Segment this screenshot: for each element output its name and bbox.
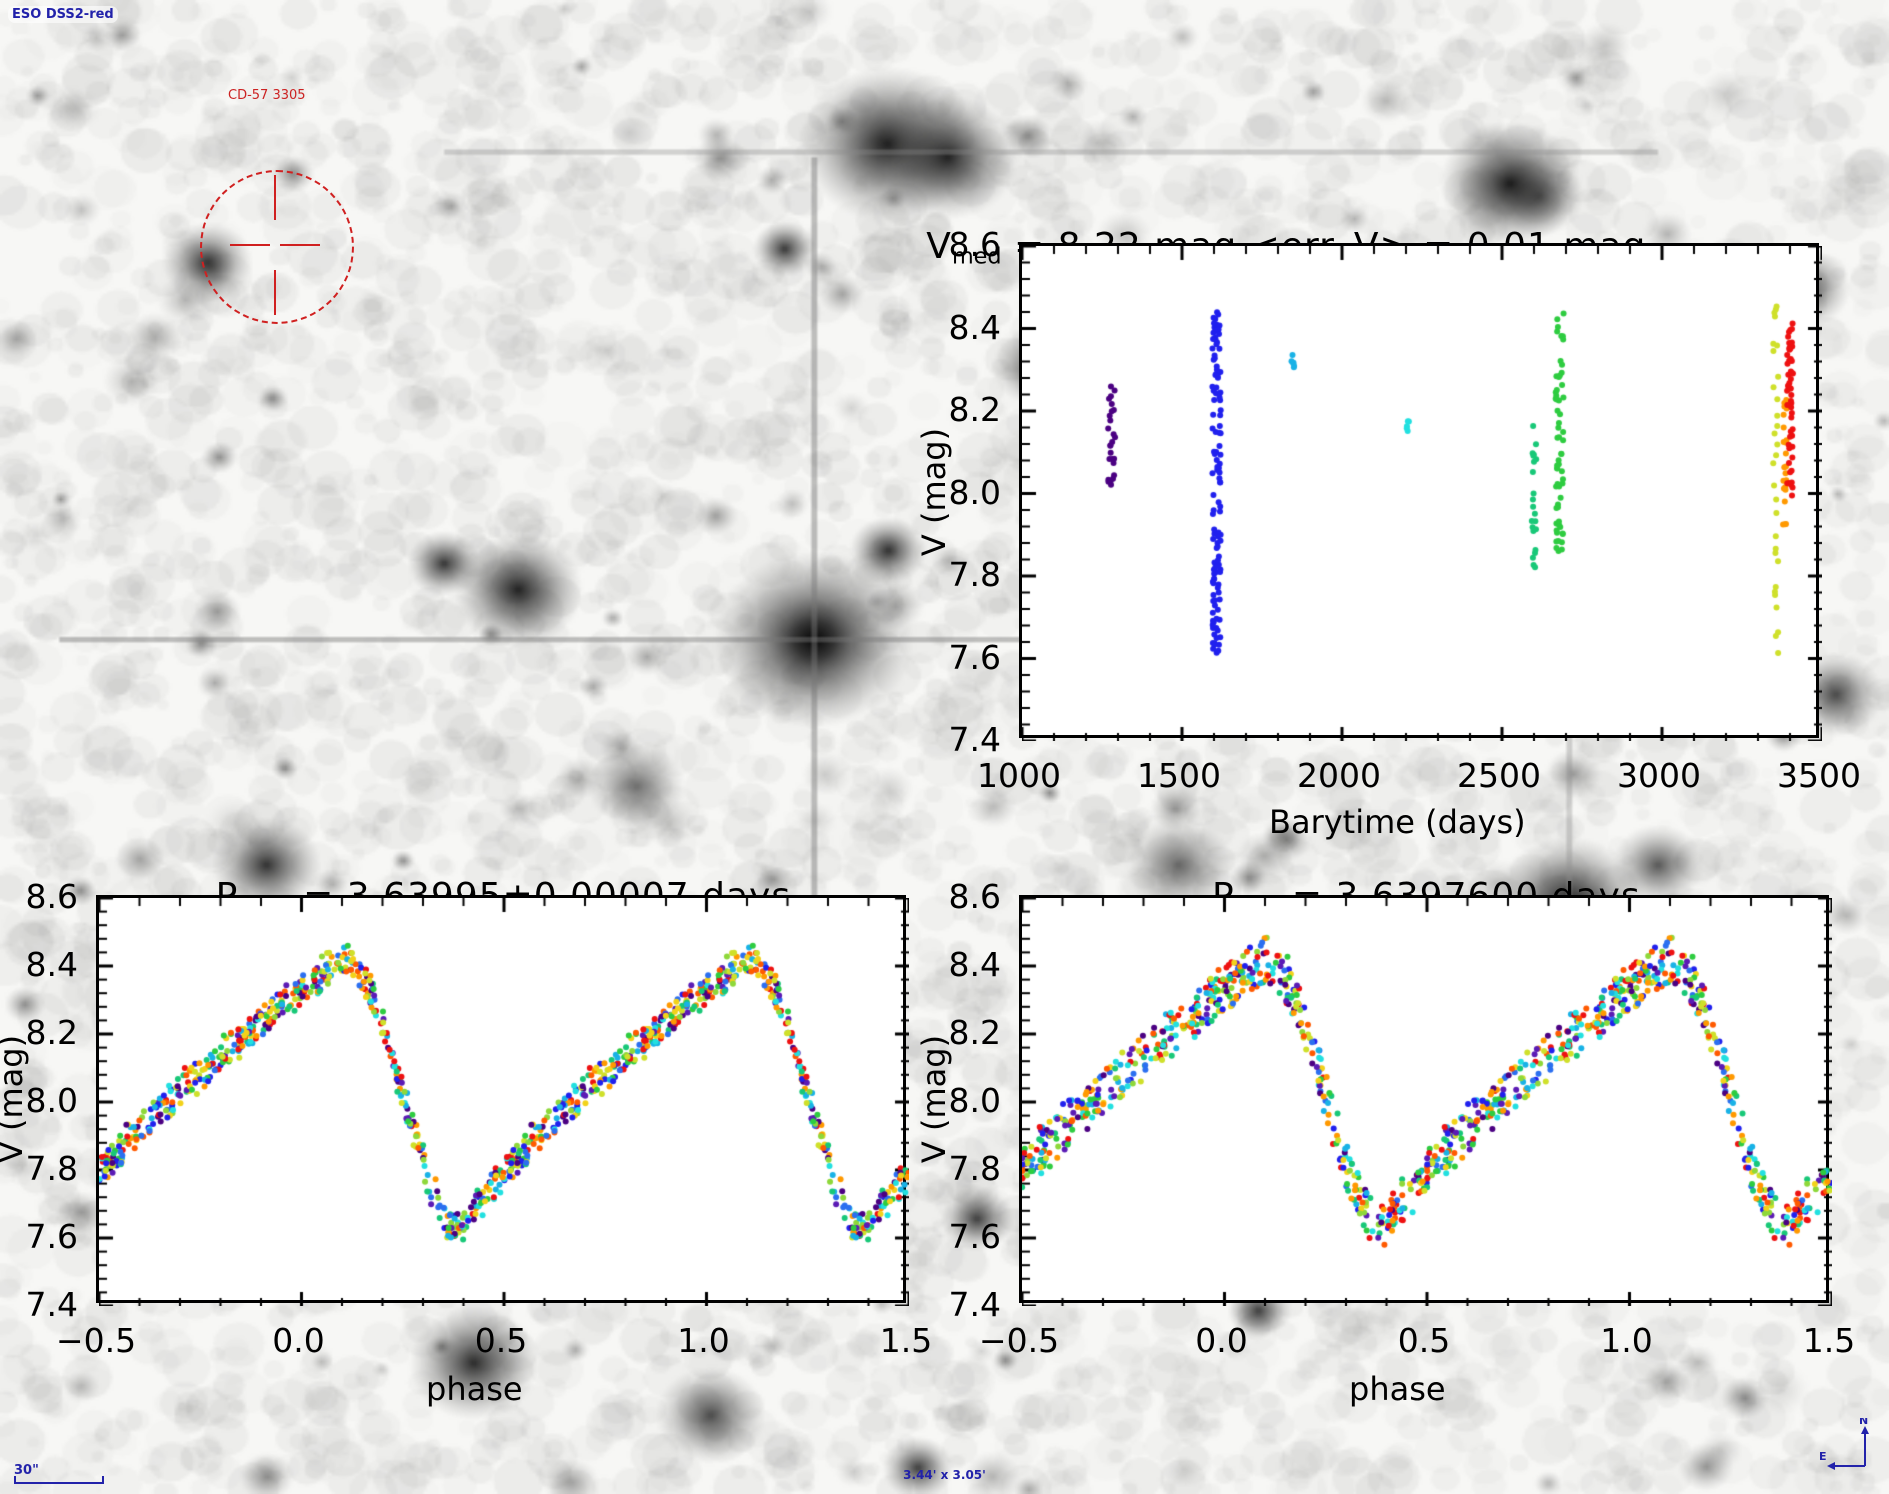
x-tick-label: 0.0: [272, 1321, 324, 1360]
x-tick-label: 0.5: [475, 1321, 527, 1360]
y-tick-label: 7.6: [891, 1217, 1001, 1256]
x-tick-label: 1.5: [1803, 1321, 1855, 1360]
y-tick-label: 8.6: [891, 225, 1001, 264]
y-tick-label: 8.4: [891, 945, 1001, 984]
y-tick-label: 8.2: [891, 1013, 1001, 1052]
lightcurve-datapoints: [1022, 246, 1822, 741]
target-aperture-circle: [200, 170, 354, 324]
x-tick-label: 1000: [977, 756, 1061, 795]
crosshair-horizontal: [230, 244, 270, 246]
y-tick-label: 7.8: [0, 1149, 78, 1188]
x-tick-label: 1.0: [677, 1321, 729, 1360]
y-tick-label: 7.4: [891, 1285, 1001, 1324]
crosshair-vertical: [274, 175, 276, 220]
y-tick-label: 8.0: [0, 1081, 78, 1120]
vsx-datapoints: [1022, 898, 1832, 1306]
star-id-label: CD-57 3305: [228, 88, 306, 103]
x-tick-label: 1.5: [880, 1321, 932, 1360]
y-tick-label: 8.4: [891, 308, 1001, 347]
y-tick-label: 8.2: [0, 1013, 78, 1052]
vsx-x-axis-label: phase: [1349, 1370, 1446, 1408]
x-tick-label: −0.5: [56, 1321, 136, 1360]
x-tick-label: 0.5: [1398, 1321, 1450, 1360]
y-tick-label: 7.4: [891, 720, 1001, 759]
x-tick-label: 0.0: [1195, 1321, 1247, 1360]
omc-datapoints: [99, 898, 909, 1306]
y-tick-label: 8.2: [891, 390, 1001, 429]
crosshair-vertical-lower: [274, 270, 276, 315]
x-tick-label: 2000: [1297, 756, 1381, 795]
omc-axes: [96, 895, 906, 1303]
y-tick-label: 7.8: [891, 555, 1001, 594]
y-tick-label: 8.0: [891, 1081, 1001, 1120]
y-tick-label: 8.6: [891, 877, 1001, 916]
x-tick-label: 3500: [1777, 756, 1861, 795]
omc-x-axis-label: phase: [426, 1370, 523, 1408]
y-tick-label: 7.4: [0, 1285, 78, 1324]
y-tick-label: 8.4: [0, 945, 78, 984]
sky-image-panel: CD-57 3305 ESO DSS2-red 30" 3.44' x 3.05…: [0, 0, 638, 570]
x-tick-label: 1.0: [1600, 1321, 1652, 1360]
crosshair-horizontal-right: [280, 244, 320, 246]
lightcurve-axes: [1019, 243, 1819, 738]
y-tick-label: 8.6: [0, 877, 78, 916]
y-tick-label: 7.6: [891, 638, 1001, 677]
x-tick-label: 2500: [1457, 756, 1541, 795]
vsx-axes: [1019, 895, 1829, 1303]
y-tick-label: 7.6: [0, 1217, 78, 1256]
x-tick-label: 3000: [1617, 756, 1701, 795]
y-tick-label: 8.0: [891, 473, 1001, 512]
y-tick-label: 7.8: [891, 1149, 1001, 1188]
figure-page: IOMC 8613000032 V* Y Car O Type: cC* Var…: [0, 0, 1889, 1494]
survey-label: ESO DSS2-red: [8, 6, 118, 23]
x-tick-label: −0.5: [979, 1321, 1059, 1360]
x-tick-label: 1500: [1137, 756, 1221, 795]
